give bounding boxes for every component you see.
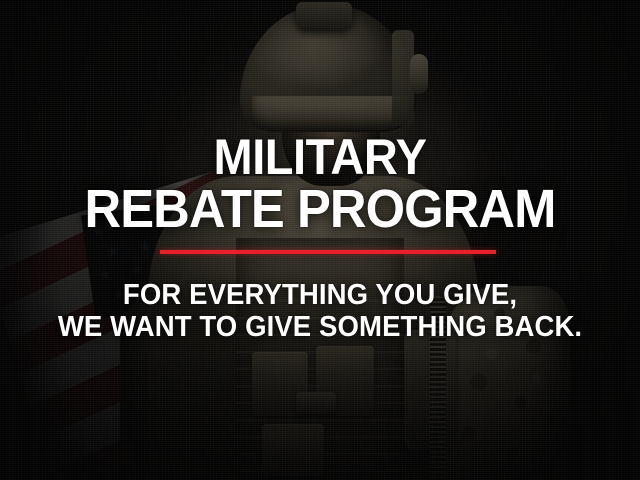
- red-divider-rule: [160, 250, 496, 254]
- page-title: MILITARY REBATE PROGRAM: [19, 131, 621, 235]
- headline-line-2: REBATE PROGRAM: [19, 183, 621, 235]
- headline-line-1: MILITARY: [19, 131, 621, 183]
- tagline-line-1: FOR EVERYTHING YOU GIVE,: [16, 279, 624, 311]
- military-rebate-program-banner: ★ ★ ★ ★ ★ ★ ★ ★ ★ ★ ★ ★ ★ ★ ★ ★ ★ ★: [0, 0, 640, 480]
- banner-copy: MILITARY REBATE PROGRAM FOR EVERYTHING Y…: [0, 0, 640, 480]
- tagline: FOR EVERYTHING YOU GIVE, WE WANT TO GIVE…: [16, 279, 624, 343]
- tagline-line-2: WE WANT TO GIVE SOMETHING BACK.: [16, 311, 624, 343]
